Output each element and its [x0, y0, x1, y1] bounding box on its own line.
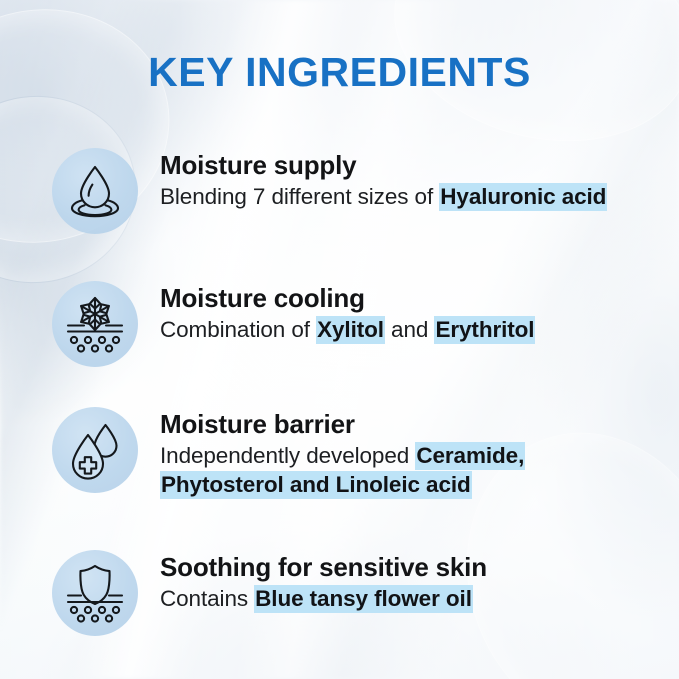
ingredient-item-moisture-supply: Moisture supply Blending 7 different siz…: [52, 148, 662, 234]
description-prefix: Blending 7 different sizes of: [160, 184, 439, 209]
description-prefix: Combination of: [160, 317, 316, 342]
highlight-phytosterol-linoleic-acid: Phytosterol and Linoleic acid: [160, 471, 472, 499]
highlight-blue-tansy-flower-oil: Blue tansy flower oil: [254, 585, 473, 613]
description-middle: and: [385, 317, 435, 342]
content-area: KEY INGREDIENTS Moisture supply Blending…: [0, 0, 679, 679]
shield-skin-pores-icon: [52, 550, 138, 636]
ingredient-description: Blending 7 different sizes of Hyaluronic…: [160, 182, 607, 211]
highlight-erythritol: Erythritol: [434, 316, 535, 344]
ingredient-description: Contains Blue tansy flower oil: [160, 584, 487, 613]
ingredient-title: Moisture cooling: [160, 284, 535, 312]
ingredient-text-block: Moisture cooling Combination of Xylitol …: [160, 281, 535, 344]
ingredient-text-block: Soothing for sensitive skin Contains Blu…: [160, 550, 487, 613]
highlight-hyaluronic-acid: Hyaluronic acid: [439, 183, 607, 211]
ingredient-title: Moisture supply: [160, 151, 607, 179]
ingredient-item-moisture-barrier: Moisture barrier Independently developed…: [52, 407, 662, 500]
ingredient-text-block: Moisture supply Blending 7 different siz…: [160, 148, 607, 211]
ingredient-description: Independently developed Ceramide,Phytost…: [160, 441, 525, 500]
ingredient-description: Combination of Xylitol and Erythritol: [160, 315, 535, 344]
water-droplet-ripple-icon: [52, 148, 138, 234]
double-droplet-plus-icon: [52, 407, 138, 493]
page-title: KEY INGREDIENTS: [0, 52, 679, 93]
description-prefix: Independently developed: [160, 443, 415, 468]
snowflake-skin-pores-icon: [52, 281, 138, 367]
ingredient-item-moisture-cooling: Moisture cooling Combination of Xylitol …: [52, 281, 662, 367]
highlight-xylitol: Xylitol: [316, 316, 385, 344]
description-prefix: Contains: [160, 586, 254, 611]
ingredient-title: Moisture barrier: [160, 410, 525, 438]
highlight-ceramide: Ceramide,: [415, 442, 525, 470]
ingredient-text-block: Moisture barrier Independently developed…: [160, 407, 525, 500]
ingredient-item-soothing-sensitive-skin: Soothing for sensitive skin Contains Blu…: [52, 550, 662, 636]
ingredient-title: Soothing for sensitive skin: [160, 553, 487, 581]
key-ingredients-infographic: KEY INGREDIENTS Moisture supply Blending…: [0, 0, 679, 679]
